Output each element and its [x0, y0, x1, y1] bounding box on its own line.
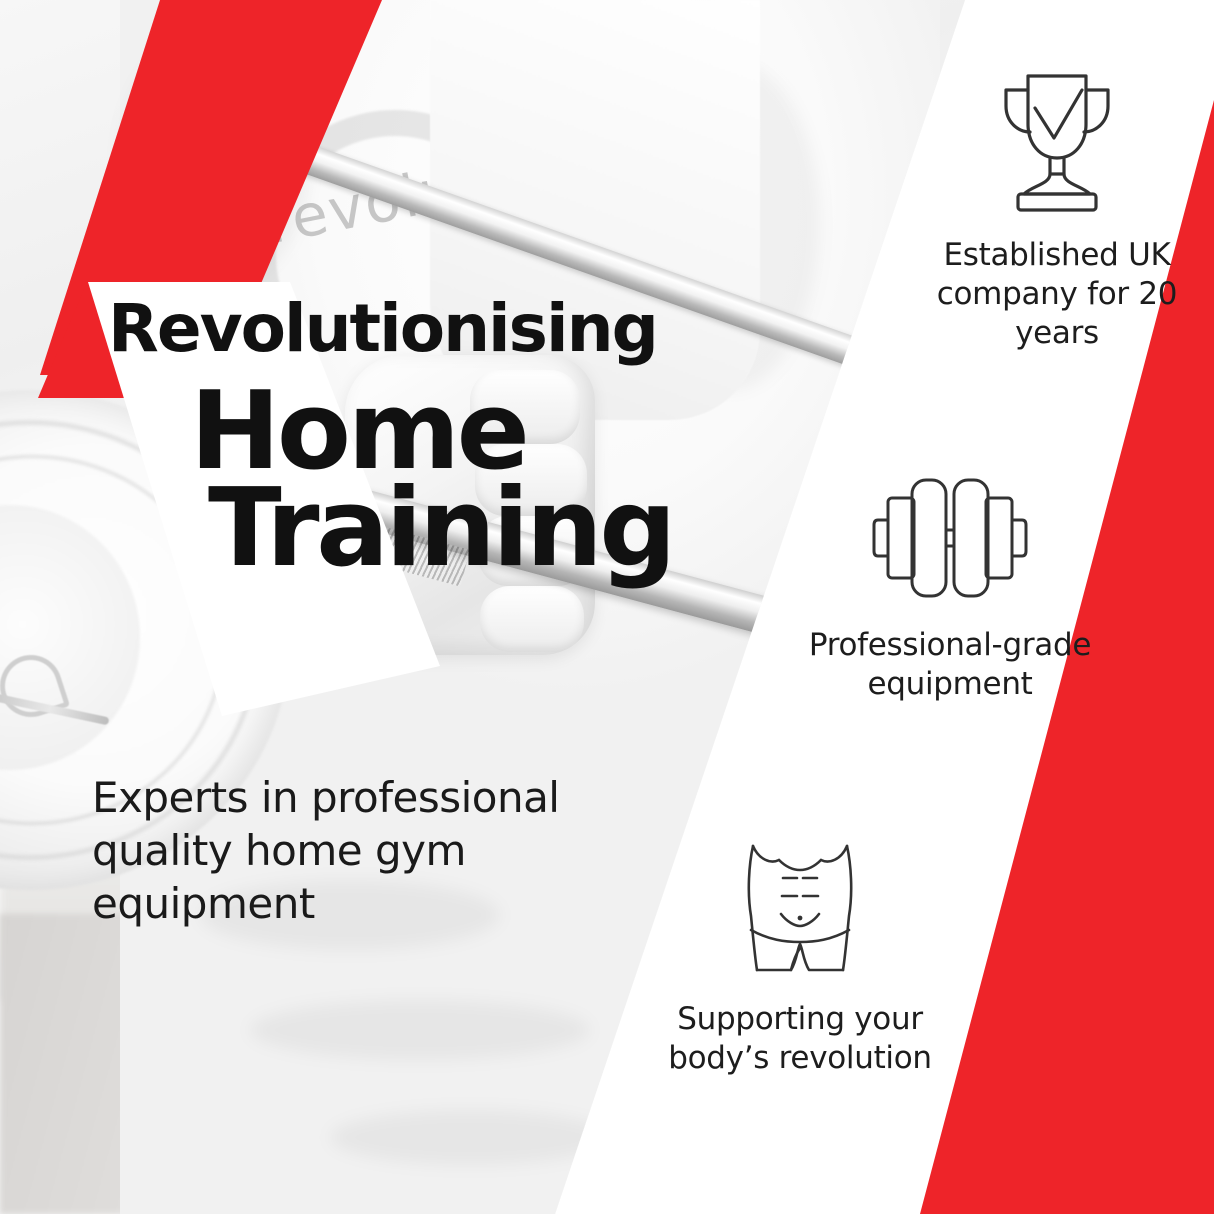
promo-banner: revolution Revolutionising Home Training… — [0, 0, 1214, 1214]
torso-abs-icon — [640, 838, 960, 978]
dumbbell-icon — [800, 472, 1100, 604]
feature-caption: Established UK company for 20 years — [916, 236, 1198, 353]
feature-caption: Professional-grade equipment — [800, 626, 1100, 704]
trophy-check-icon — [916, 62, 1198, 214]
feature-item-body: Supporting your body’s revolution — [640, 838, 960, 1078]
feature-item-equipment: Professional-grade equipment — [800, 472, 1100, 704]
feature-item-established: Established UK company for 20 years — [916, 62, 1198, 353]
feature-caption: Supporting your body’s revolution — [640, 1000, 960, 1078]
feature-list: Established UK company for 20 years Prof… — [0, 0, 1214, 1214]
